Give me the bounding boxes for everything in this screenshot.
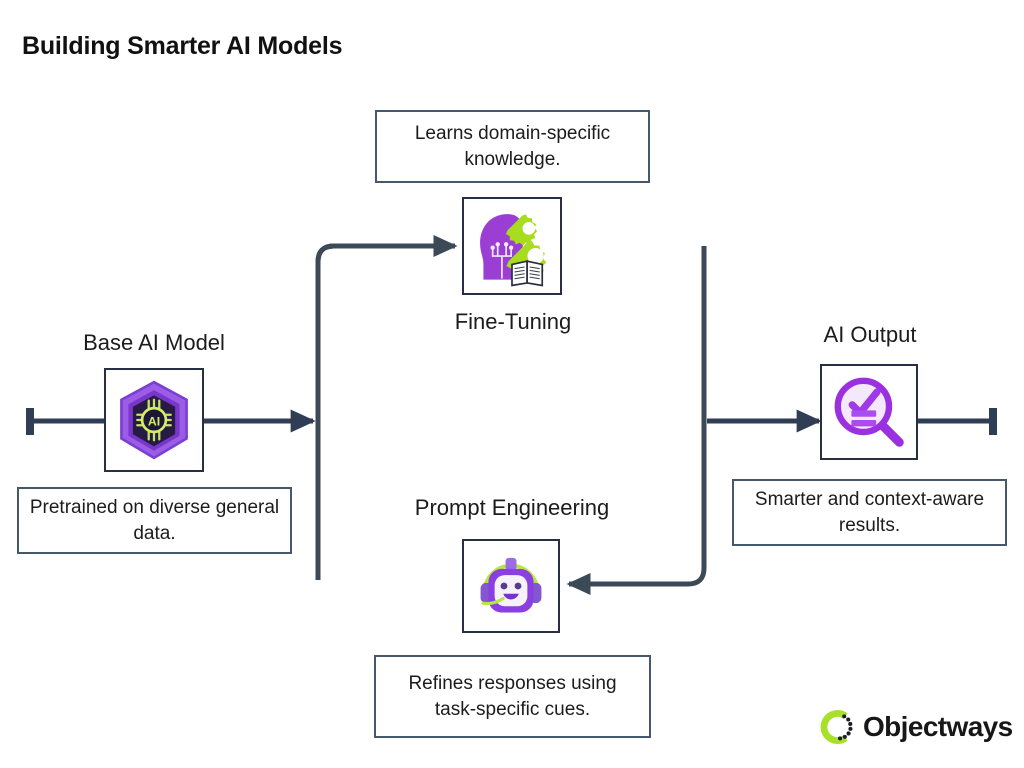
label-base-ai-model: Base AI Model (54, 330, 254, 356)
objectways-logo-text: Objectways (863, 711, 1013, 743)
ai-shield-chip-icon: AI (110, 376, 198, 464)
loop-path-down-to-prompt (569, 246, 704, 584)
objectways-ring-icon (820, 710, 854, 744)
ai-chip-label: AI (148, 414, 160, 428)
label-prompt-engineering: Prompt Engineering (372, 495, 652, 521)
base-model-icon-box: AI (104, 368, 204, 472)
label-ai-output: AI Output (784, 322, 956, 348)
loop-path-up-to-fine-tuning (318, 246, 455, 580)
prompt-engineering-icon-box (462, 539, 560, 633)
note-output: Smarter and context-aware results. (732, 479, 1007, 546)
note-fine-tuning: Learns domain-specific knowledge. (375, 110, 650, 183)
note-prompt-engineering: Refines responses using task-specific cu… (374, 655, 651, 738)
open-book (512, 261, 542, 285)
magnifier-checkmark-icon (828, 372, 910, 452)
note-base-model: Pretrained on diverse general data. (17, 487, 292, 554)
loop-corner-top-left (318, 246, 334, 262)
objectways-logo: Objectways (820, 710, 1013, 744)
fine-tuning-icon-box (462, 197, 562, 295)
chatbot-headset-icon (470, 547, 552, 625)
label-fine-tuning: Fine-Tuning (383, 309, 643, 335)
diagram-canvas: Building Smarter AI Models Learns d (0, 0, 1024, 768)
ai-output-icon-box (820, 364, 918, 460)
head-gears-book-icon (469, 204, 555, 288)
